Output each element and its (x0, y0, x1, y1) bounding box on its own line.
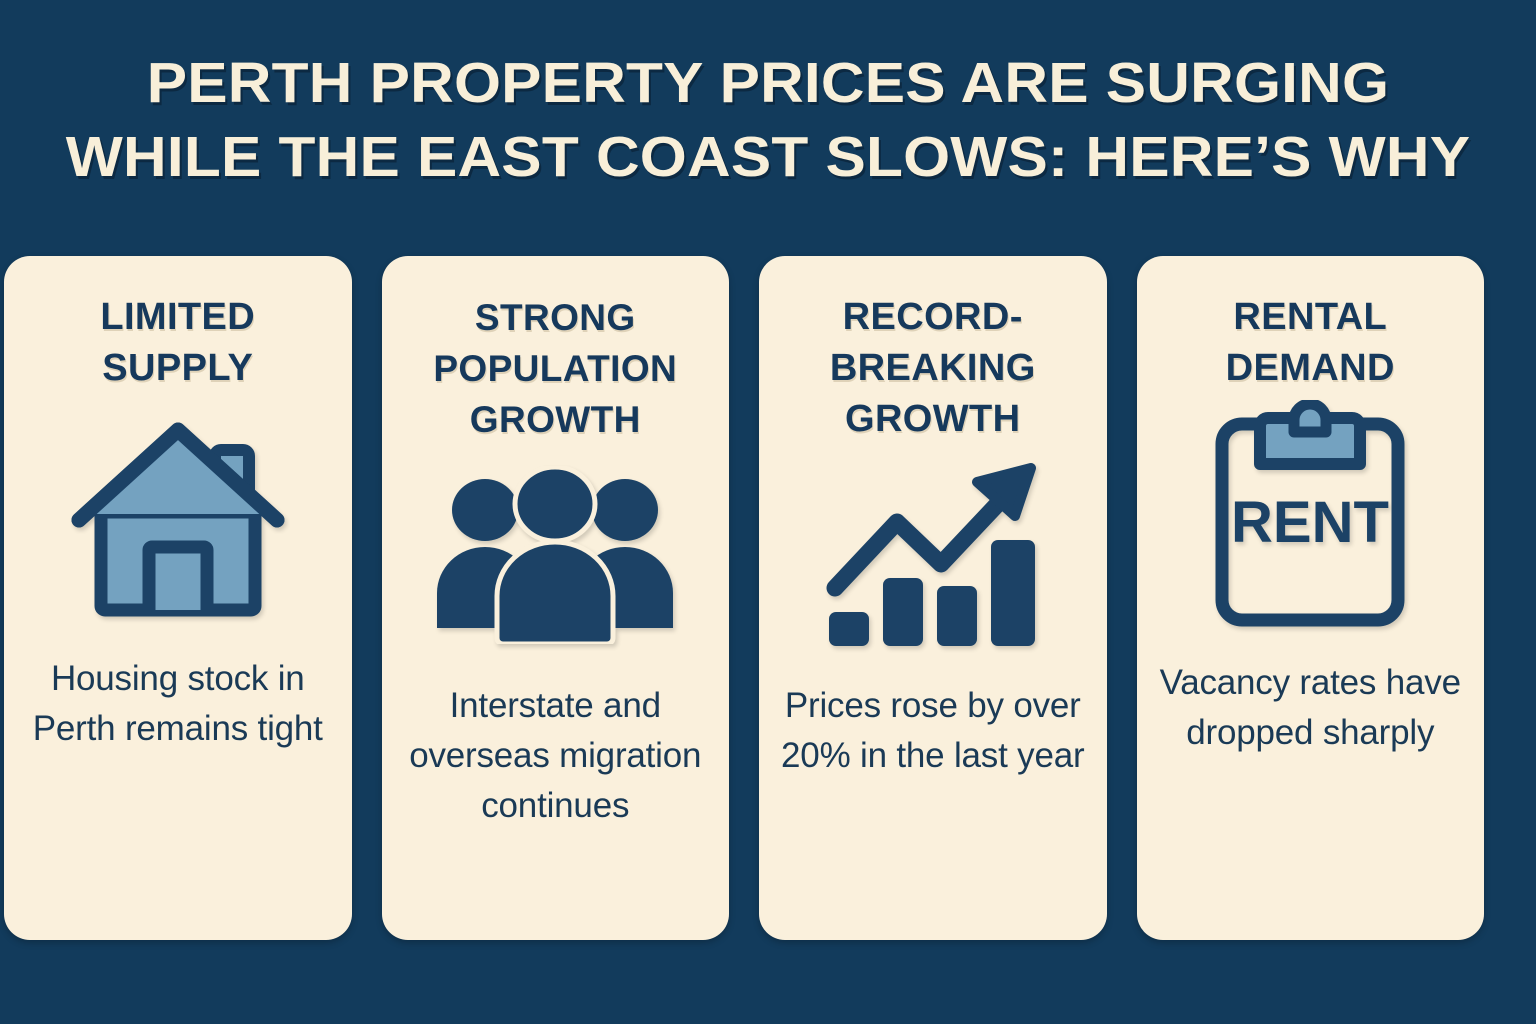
card-limited-supply[interactable]: LIMITED SUPPLY Housing stock in Perth re… (4, 256, 352, 940)
people-group-icon (431, 455, 679, 655)
card-body-text: Housing stock in Perth remains tight (20, 654, 336, 754)
growth-bar-chart-icon (817, 455, 1049, 655)
clipboard-rent-icon: RENT (1212, 400, 1408, 632)
page-title-line-1: PERTH PROPERTY PRICES ARE SURGING (0, 46, 1536, 120)
card-rental-demand[interactable]: RENTAL DEMAND RENT Vacancy rates have dr… (1137, 256, 1485, 940)
card-title: LIMITED SUPPLY (20, 292, 336, 394)
card-strong-population-growth[interactable]: STRONG POPULATION GROWTH Interstate and … (382, 256, 730, 940)
page-title-line-2: WHILE THE EAST COAST SLOWS: HERE’S WHY (0, 120, 1536, 194)
card-body-text: Vacancy rates have dropped sharply (1153, 658, 1469, 758)
page-title: PERTH PROPERTY PRICES ARE SURGING WHILE … (0, 46, 1536, 194)
card-body-text: Prices rose by over 20% in the last year (775, 681, 1091, 781)
card-title: RENTAL DEMAND (1153, 292, 1469, 394)
house-icon (69, 412, 287, 628)
card-body-text: Interstate and overseas migration contin… (398, 681, 714, 831)
card-record-breaking-growth[interactable]: RECORD-BREAKING GROWTH Prices rose by ov… (759, 256, 1107, 940)
card-title: RECORD-BREAKING GROWTH (775, 292, 1091, 445)
card-title: STRONG POPULATION GROWTH (398, 292, 714, 445)
card-row: LIMITED SUPPLY Housing stock in Perth re… (4, 256, 1484, 940)
clipboard-rent-label: RENT (1231, 490, 1389, 555)
